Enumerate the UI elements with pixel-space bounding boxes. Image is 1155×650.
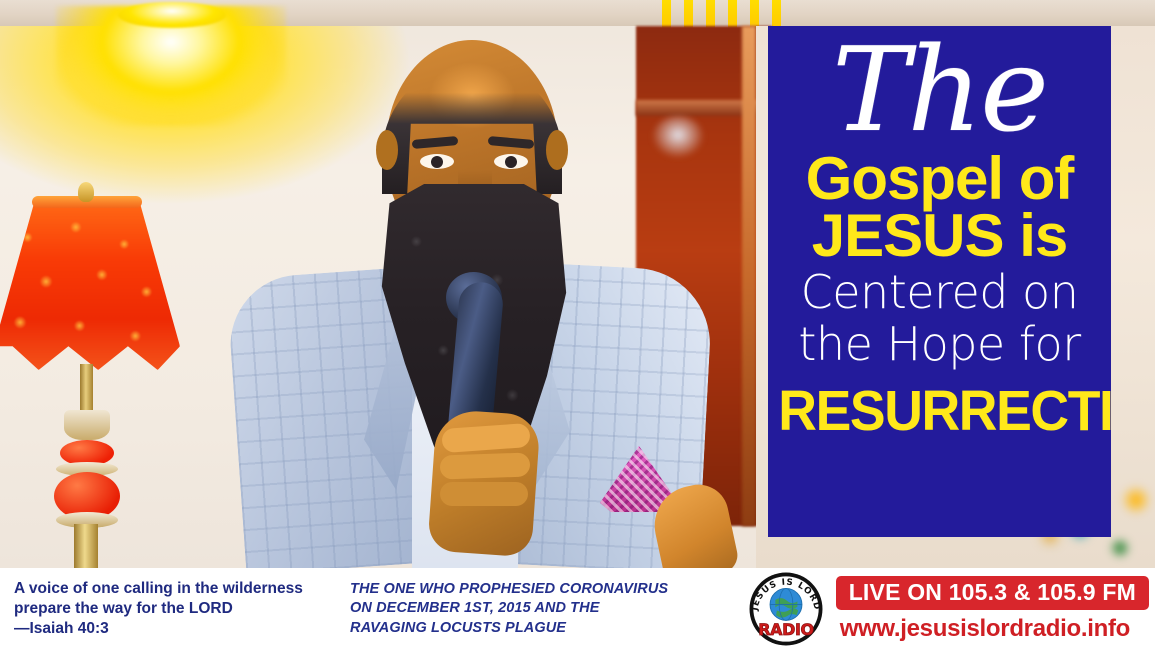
- live-frequency-badge: LIVE ON 105.3 & 105.9 FM: [836, 576, 1149, 610]
- table-lamp: [0, 182, 190, 568]
- headline-centered-on: Centered on: [768, 266, 1111, 318]
- prophecy-line-2: ON DECEMBER 1ST, 2015 AND THE: [350, 599, 748, 618]
- headline-gospel-of: Gospel of: [768, 148, 1111, 209]
- headline-jesus-is: JESUS is: [768, 205, 1111, 266]
- prophecy-line-3: RAVAGING LOCUSTS PLAGUE: [350, 619, 748, 638]
- website-url[interactable]: www.jesusislordradio.info: [836, 615, 1149, 643]
- scripture-line-2: prepare the way for the LORD: [14, 599, 350, 619]
- door-edge: [742, 26, 756, 526]
- scripture-quote: A voice of one calling in the wilderness…: [0, 579, 350, 638]
- logo-radio-text: RADIO: [758, 620, 813, 639]
- scripture-line-1: A voice of one calling in the wilderness: [14, 579, 350, 599]
- preacher-portrait: [236, 34, 706, 568]
- finger-2: [440, 452, 531, 479]
- prophecy-statement: THE ONE WHO PROPHESIED CORONAVIRUS ON DE…: [350, 580, 748, 638]
- ceiling-light-fixture: [118, 2, 226, 28]
- headline-the-hope-for: the Hope for: [768, 318, 1111, 370]
- lamp-stem: [80, 364, 93, 416]
- prophecy-line-1: THE ONE WHO PROPHESIED CORONAVIRUS: [350, 580, 748, 599]
- jesus-is-lord-radio-logo-icon[interactable]: JESUS IS LORD RADIO: [748, 571, 824, 647]
- banner-graphic: The Gospel of JESUS is Centered on the H…: [0, 0, 1155, 650]
- headline-script-the: The: [768, 34, 1111, 148]
- eye-left: [420, 154, 454, 169]
- lamp-finial: [78, 182, 94, 202]
- finger-3: [440, 482, 528, 506]
- lamp-collar: [64, 410, 110, 440]
- lamp-post: [74, 524, 98, 568]
- headline-resurrection: RESURRECTION: [778, 383, 1100, 440]
- ear-left: [376, 130, 398, 170]
- lamp-shade: [0, 200, 180, 370]
- scripture-reference: —Isaiah 40:3: [14, 619, 350, 639]
- headline-panel: The Gospel of JESUS is Centered on the H…: [768, 26, 1111, 537]
- broadcast-text-block: LIVE ON 105.3 & 105.9 FM www.jesusislord…: [836, 576, 1149, 643]
- broadcast-branding: JESUS IS LORD RADIO LIVE ON 105.3 & 105.…: [748, 571, 1155, 647]
- ear-right: [546, 130, 568, 170]
- bottom-bar: A voice of one calling in the wilderness…: [0, 568, 1155, 650]
- eye-right: [494, 154, 528, 169]
